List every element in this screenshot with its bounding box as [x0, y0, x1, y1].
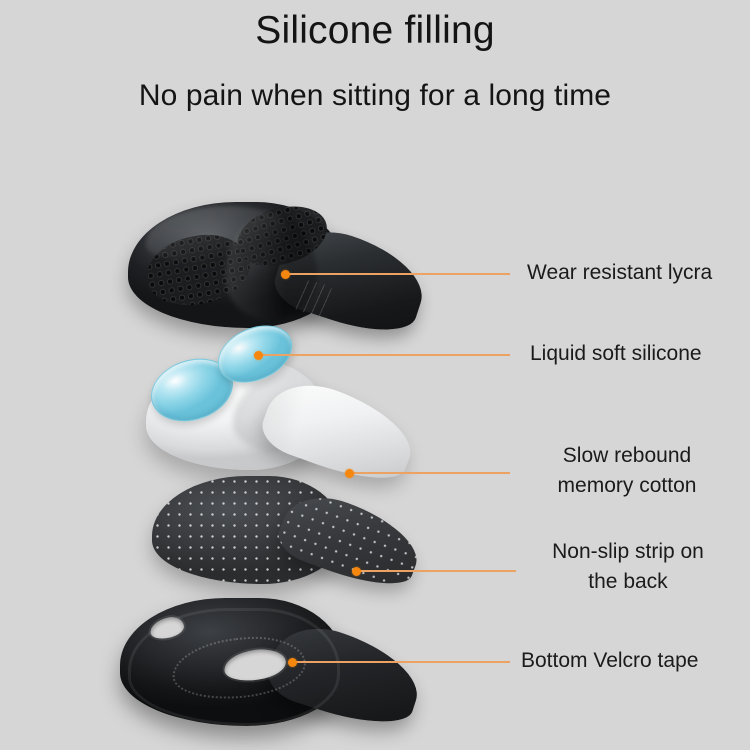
callout-label-liquid-soft-silicone: Liquid soft silicone [530, 339, 702, 369]
callout-leader-line-bottom-velcro-tape [292, 661, 510, 663]
callout-dot-slow-rebound-memory-cotton [345, 469, 354, 478]
callout-label-line-2: memory cotton [527, 471, 727, 501]
callout-label-line-1: Slow rebound [527, 441, 727, 471]
product-layer-memory-foam [146, 332, 406, 492]
callout-label-non-slip-strip-on-the-back: Non-slip strip on the back [524, 537, 732, 597]
product-layer-velcro-bottom [120, 592, 410, 750]
callout-dot-liquid-soft-silicone [254, 351, 263, 360]
callout-label-slow-rebound-memory-cotton: Slow rebound memory cotton [527, 441, 727, 501]
product-layer-lycra-cover [128, 196, 396, 346]
callout-label-bottom-velcro-tape: Bottom Velcro tape [521, 646, 698, 676]
page-subtitle: No pain when sitting for a long time [0, 79, 750, 114]
callout-dot-wear-resistant-lycra [281, 270, 290, 279]
callout-label-line-2: the back [524, 567, 732, 597]
callout-label-line-1: Non-slip strip on [524, 537, 732, 567]
callout-leader-line-wear-resistant-lycra [285, 273, 510, 275]
callout-leader-line-non-slip-strip-on-the-back [356, 570, 516, 572]
callout-label-wear-resistant-lycra: Wear resistant lycra [527, 258, 712, 288]
callout-dot-bottom-velcro-tape [288, 658, 297, 667]
product-infographic: Silicone filling No pain when sitting fo… [0, 0, 750, 750]
page-title: Silicone filling [0, 10, 750, 53]
callout-leader-line-slow-rebound-memory-cotton [349, 472, 510, 474]
callout-dot-non-slip-strip-on-the-back [352, 567, 361, 576]
callout-leader-line-liquid-soft-silicone [258, 354, 510, 356]
